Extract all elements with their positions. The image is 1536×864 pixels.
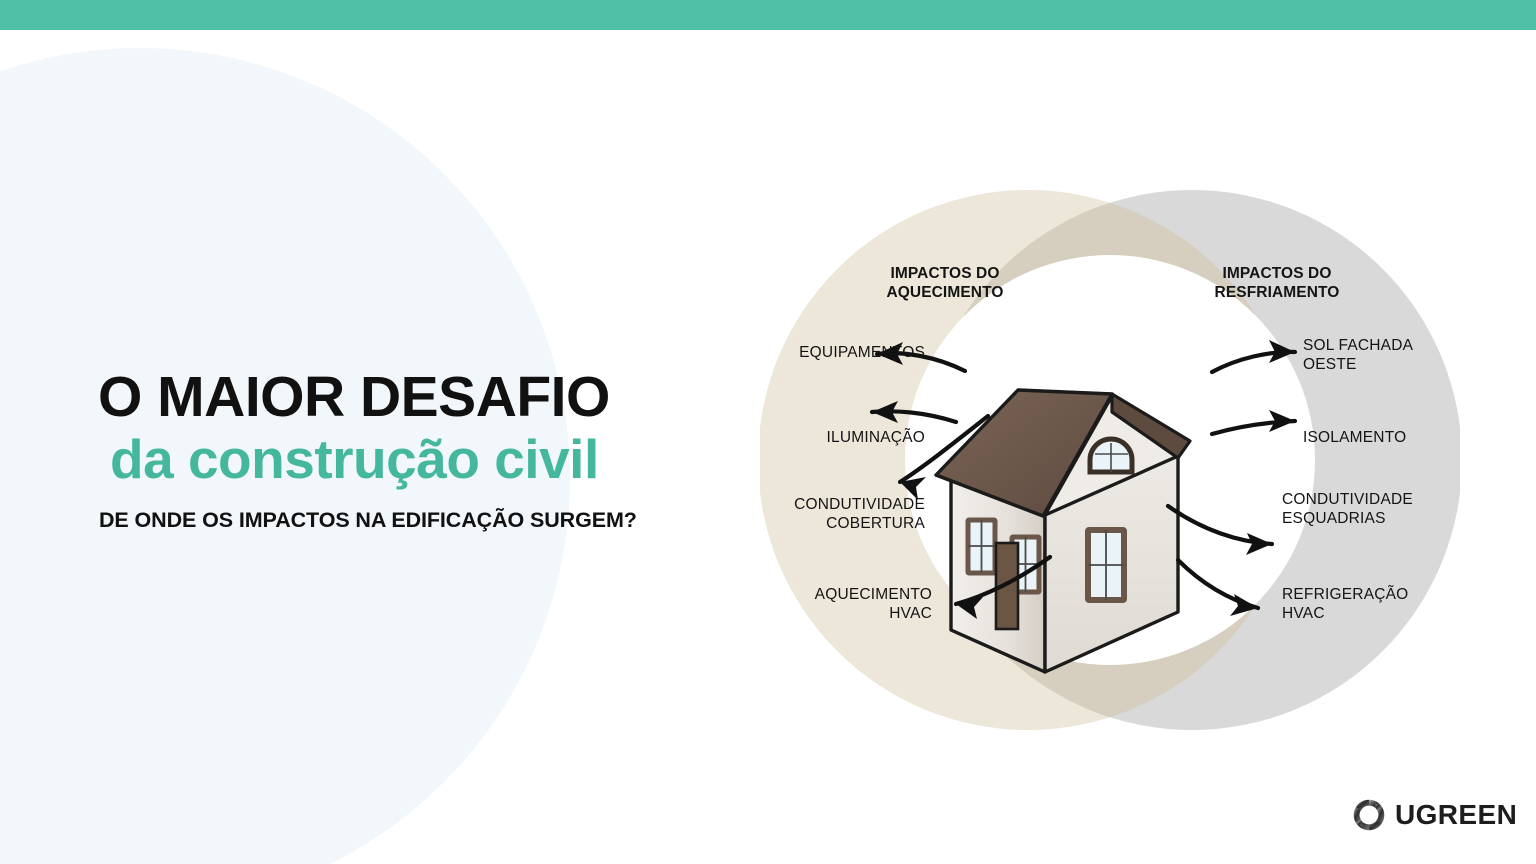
cooling-item-isolamento: ISOLAMENTO: [1303, 428, 1478, 447]
heating-item-iluminacao: ILUMINAÇÃO: [770, 428, 925, 447]
cooling-group-heading: IMPACTOS DO RESFRIAMENTO: [1152, 265, 1402, 302]
headline-block: O MAIOR DESAFIO da construção civil DE O…: [98, 368, 718, 533]
venn-diagram: IMPACTOS DO AQUECIMENTO EQUIPAMENTOS ILU…: [760, 160, 1460, 760]
page-title: O MAIOR DESAFIO: [98, 368, 718, 426]
cooling-item-refrigeracao-hvac: REFRIGERAÇÃO HVAC: [1282, 585, 1467, 624]
page-subtitle: da construção civil: [110, 430, 718, 489]
brand-logo[interactable]: UGREEN: [1352, 798, 1517, 832]
heating-group-heading: IMPACTOS DO AQUECIMENTO: [820, 265, 1070, 302]
heating-item-condutividade-cobertura: CONDUTIVIDADE COBERTURA: [750, 495, 925, 534]
slide-canvas: O MAIOR DESAFIO da construção civil DE O…: [0, 0, 1536, 864]
brand-name: UGREEN: [1395, 799, 1517, 831]
recycle-circle-icon: [1352, 798, 1386, 832]
top-accent-bar: [0, 0, 1536, 30]
cooling-item-condutividade-esquadrias: CONDUTIVIDADE ESQUADRIAS: [1282, 490, 1467, 529]
heating-item-aquecimento-hvac: AQUECIMENTO HVAC: [760, 585, 932, 624]
venn-diagram-svg: [760, 160, 1460, 760]
cooling-item-sol-fachada-oeste: SOL FACHADA OESTE: [1303, 336, 1478, 375]
page-kicker-question: DE ONDE OS IMPACTOS NA EDIFICAÇÃO SURGEM…: [99, 508, 718, 533]
heating-item-equipamentos: EQUIPAMENTOS: [770, 343, 925, 362]
